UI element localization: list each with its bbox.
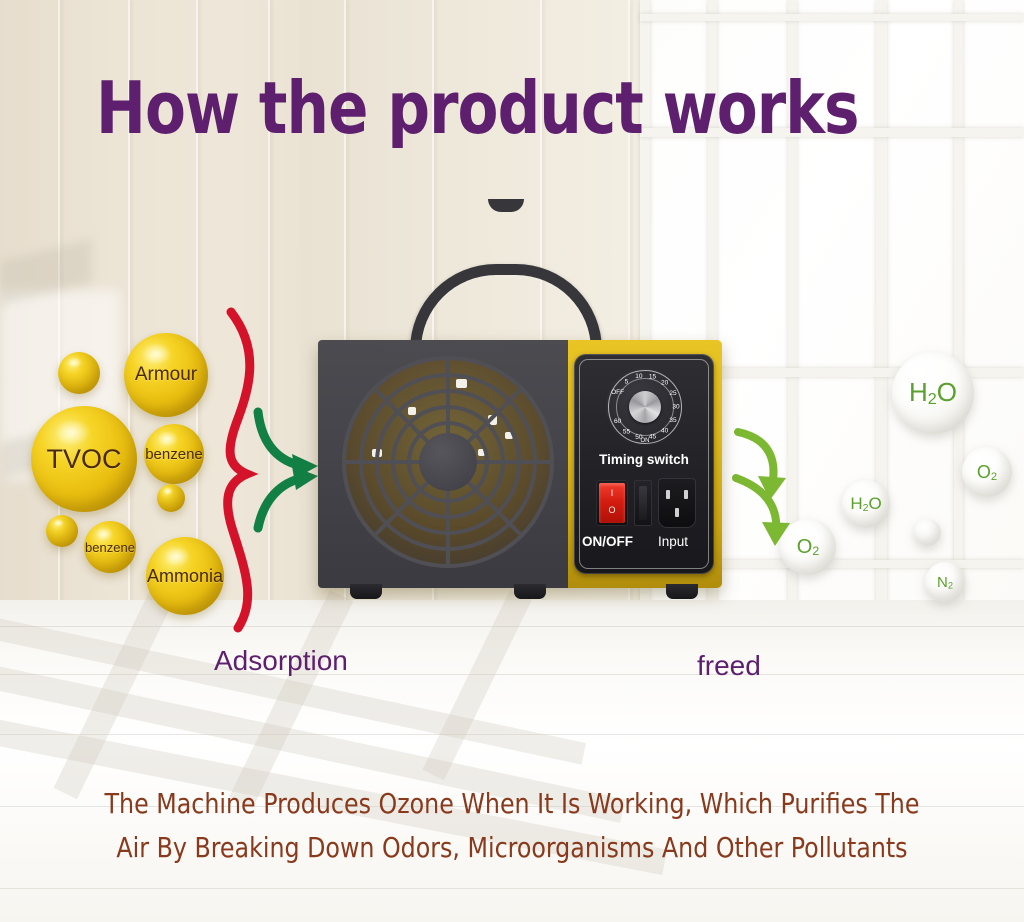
bubble-label: Ammonia [147, 566, 223, 587]
adsorption-label: Adsorption [214, 645, 348, 677]
dial-tick-10: 10 [635, 373, 642, 380]
socket-pin [666, 490, 670, 499]
bubble-label: Armour [135, 364, 197, 386]
fan-grille [342, 356, 554, 568]
floor-window-shadow [422, 590, 531, 780]
rocker-off-mark: O [599, 505, 625, 515]
power-rocker-switch[interactable]: I O [596, 480, 628, 526]
clean-bubble-small [914, 519, 941, 546]
pollutant-bubble-small [58, 352, 100, 394]
clean-bubble-n2: N2 [925, 562, 965, 602]
timing-dial[interactable]: OFF51015202530354045505560 ON [606, 368, 684, 446]
floor-plank-line [0, 674, 1024, 675]
machine-foot-right [666, 584, 698, 599]
pollutant-bubble-ammonia: Ammonia [146, 537, 224, 615]
bubble-label: H2O [850, 494, 881, 514]
clean-bubble-h2o: H2O [842, 480, 890, 528]
grille-hub [419, 433, 477, 491]
bubble-label: N2 [937, 574, 953, 591]
fuse-holder[interactable] [634, 480, 652, 526]
pollutant-bubble-armour: Armour [124, 333, 208, 417]
bubble-label: O2 [797, 536, 819, 559]
caption-line-1: The Machine Produces Ozone When It Is Wo… [20, 782, 1003, 826]
floor [0, 600, 1024, 922]
rocker-on-mark: I [599, 488, 625, 498]
dial-tick-60: 60 [614, 418, 621, 425]
bubble-label: O2 [977, 462, 997, 483]
ozone-generator-machine: OFF51015202530354045505560 ON Timing swi… [318, 340, 722, 595]
pollutant-bubble-benzene: benzene [144, 424, 204, 484]
dial-tick-20: 20 [661, 380, 668, 387]
window-mullion [954, 0, 963, 640]
pollutant-bubble-benzene: benzene [84, 521, 136, 573]
rocker-red-face: I O [599, 483, 625, 523]
page-title: How the product works [96, 66, 887, 150]
dial-knob[interactable] [629, 391, 661, 423]
dial-tick-35: 35 [669, 417, 676, 424]
pollutant-bubble-tvoc: TVOC [31, 406, 137, 512]
bubble-label: benzene [85, 540, 135, 555]
clean-bubble-h2o: H2O [892, 352, 974, 434]
machine-foot-mid [514, 584, 546, 599]
dial-tick-15: 15 [649, 373, 656, 380]
dial-tick-55: 55 [623, 428, 630, 435]
floor-plank-line [0, 888, 1024, 889]
bubble-label: H2O [909, 377, 957, 409]
dial-tick-40: 40 [661, 427, 668, 434]
pollutant-bubble-small [157, 484, 185, 512]
pollutant-bubble-small [46, 515, 78, 547]
dial-tick-25: 25 [669, 390, 676, 397]
power-input-socket[interactable] [658, 478, 696, 528]
caption-line-2: Air By Breaking Down Odors, Microorganis… [20, 826, 1003, 870]
control-panel: OFF51015202530354045505560 ON Timing swi… [574, 354, 714, 574]
dial-tick-30: 30 [672, 404, 679, 411]
socket-pin [684, 490, 688, 499]
clean-bubble-o2: O2 [780, 519, 836, 575]
bottom-caption: The Machine Produces Ozone When It Is Wo… [20, 782, 1003, 870]
freed-label: freed [697, 650, 761, 682]
clean-bubble-o2: O2 [962, 447, 1012, 497]
socket-pin [675, 508, 679, 517]
infographic-canvas: How the product works ArmourTVOCbenzeneb… [0, 0, 1024, 922]
dial-tick-5: 5 [625, 379, 629, 386]
input-label: Input [658, 534, 688, 549]
dial-on-label: ON [641, 438, 650, 444]
onoff-label: ON/OFF [582, 534, 633, 549]
window-mullion [640, 14, 1024, 21]
dial-tick-45: 45 [649, 434, 656, 441]
dial-tick-off: OFF [611, 389, 624, 396]
timing-switch-label: Timing switch [574, 452, 714, 467]
bubble-label: TVOC [46, 444, 121, 475]
bubble-label: benzene [145, 446, 203, 463]
machine-foot-left [350, 584, 382, 599]
